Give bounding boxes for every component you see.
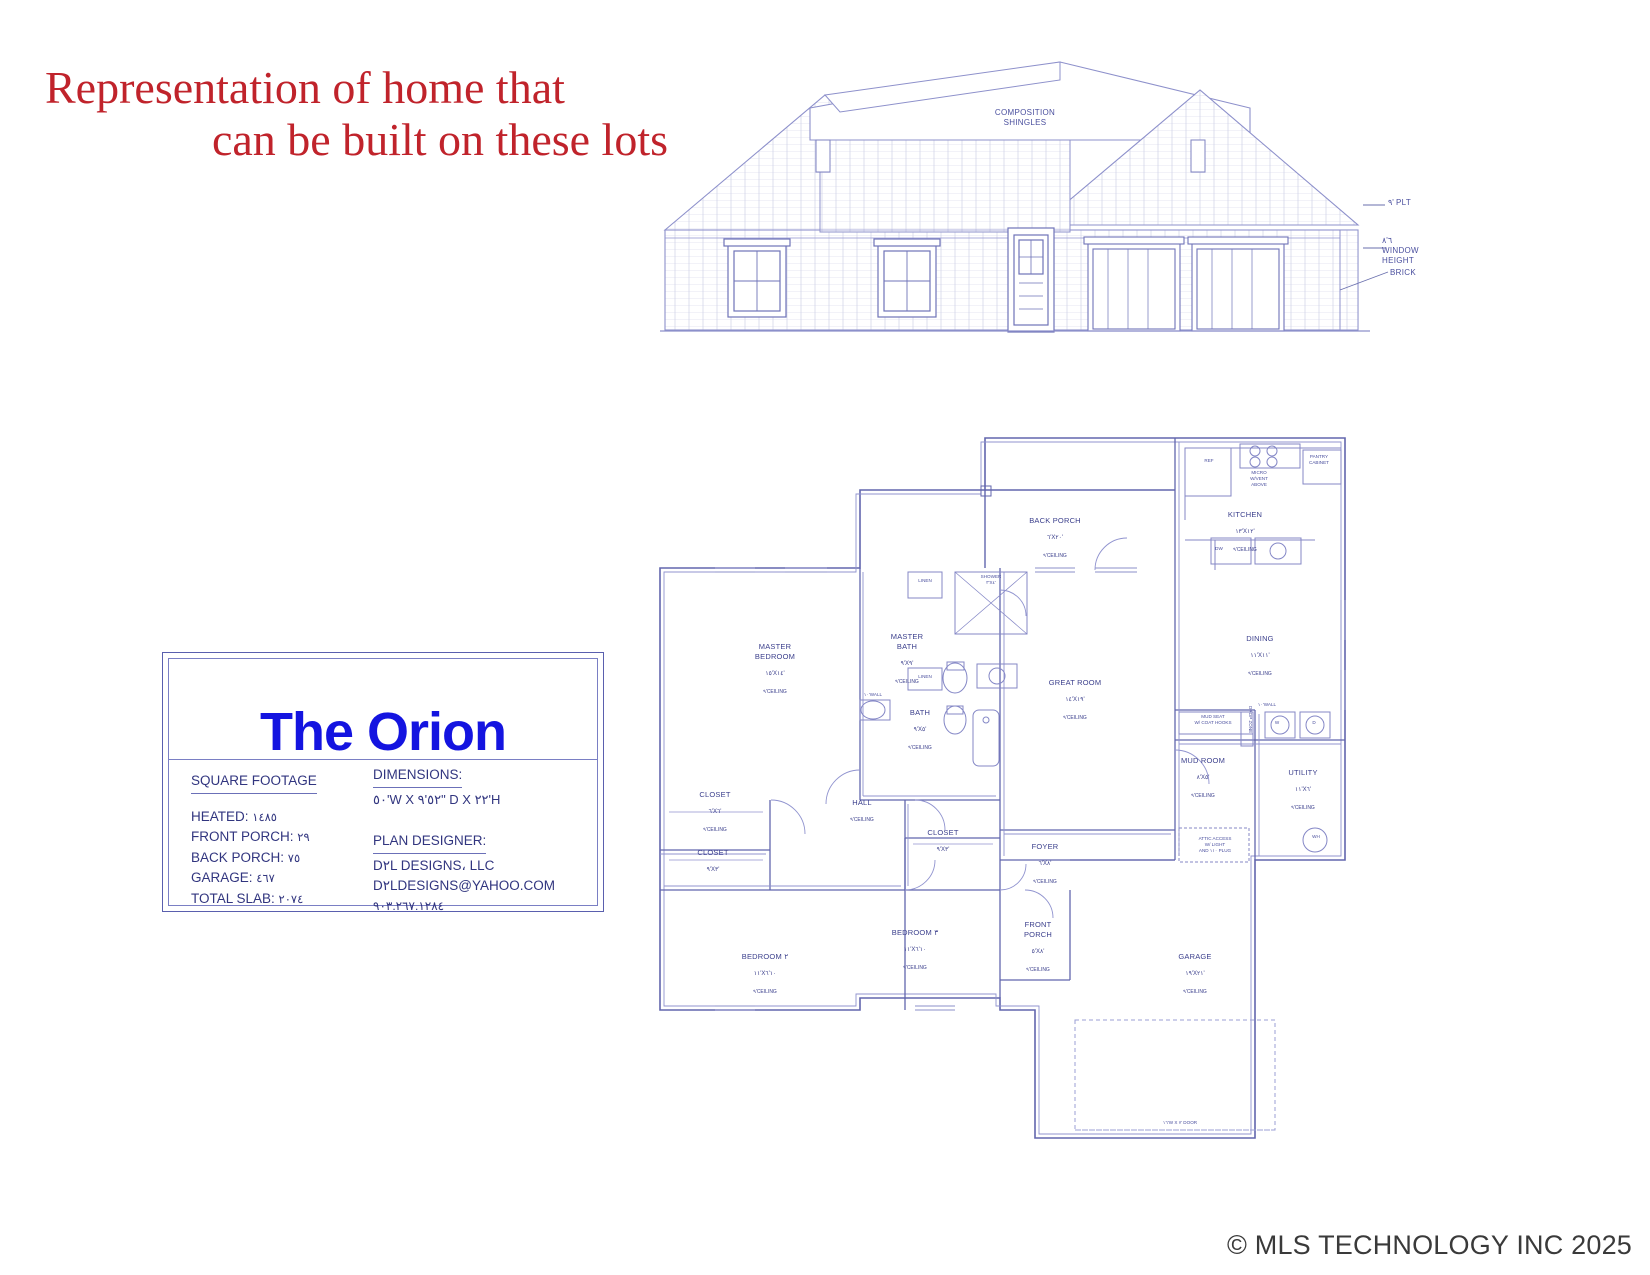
room-label-bedroom-2: BEDROOM ٢ ١١'X١٠'٦ ٩'CEILING — [715, 942, 815, 1005]
sqft-row-garage: GARAGE: ٤٦٧ — [191, 868, 381, 889]
elevation-svg — [640, 40, 1430, 340]
roof-material-note: COMPOSITION SHINGLES — [970, 108, 1080, 128]
sqft-value-total-slab: ٢٠٧٤ — [279, 894, 304, 906]
plan-designer-heading: PLAN DESIGNER: — [373, 831, 486, 854]
square-footage-section: SQUARE FOOTAGE HEATED: ١٤٨٥ FRONT PORCH:… — [191, 771, 381, 909]
square-footage-heading: SQUARE FOOTAGE — [191, 771, 317, 794]
floor-plan-drawing: BACK PORCH ٦'X٢٠' ٩'CEILING KITCHEN ١٣'X… — [655, 420, 1355, 1160]
sqft-row-total-slab: TOTAL SLAB: ٢٠٧٤ — [191, 889, 381, 910]
annotation-linen-lower: LINEN — [907, 674, 943, 680]
window-height-note: ٦'٨ WINDOW HEIGHT — [1382, 236, 1462, 266]
plate-height-note: ٩' PLT — [1388, 198, 1458, 208]
room-label-closet-bedroom3: CLOSET ٩'X٣' — [903, 818, 983, 865]
sqft-value-back-porch: ٧٥ — [288, 853, 300, 865]
room-label-closet-master: CLOSET ٦'X٦' ٩'CEILING — [675, 780, 755, 843]
room-label-bedroom-3: BEDROOM ٣ ١١'X١٠'٦ ٩'CEILING — [865, 918, 965, 981]
annotation-refrigerator: REF — [1185, 458, 1233, 464]
designer-email: D٢LDESIGNS@YAHOO.COM — [373, 876, 588, 897]
room-label-garage: GARAGE ١٩'X٢١' ٩'CEILING — [1145, 942, 1245, 1005]
dimensions-heading: DIMENSIONS: — [373, 765, 462, 788]
annotation-dishwasher: DW — [1205, 546, 1233, 552]
plan-title-block: The Orion SQUARE FOOTAGE HEATED: ١٤٨٥ FR… — [162, 652, 604, 912]
annotation-pantry-cabinet: PANTRY CABINET — [1295, 454, 1343, 466]
room-label-front-porch: FRONT PORCH ٥'X٨' ٩'CEILING — [1003, 910, 1073, 983]
annotation-washer: W — [1270, 720, 1284, 726]
annotation-ten-foot-wall-left: ١٠'WALL — [851, 692, 895, 698]
sqft-label-heated: HEATED — [191, 809, 245, 824]
room-label-mud-room: MUD ROOM ٨'X٥' ٩'CEILING — [1163, 746, 1243, 809]
sqft-label-front-porch: FRONT PORCH — [191, 829, 290, 844]
room-label-hall: HALL ٩'CEILING — [827, 788, 897, 834]
sqft-label-total-slab: TOTAL SLAB — [191, 891, 271, 906]
annotation-attic-access: ATTIC ACCESS W/ LIGHT AND ١١٠ PLUG — [1175, 836, 1255, 854]
annotation-garage-door: ١٦'W X ٧' DOOR — [1135, 1120, 1225, 1126]
room-label-kitchen: KITCHEN ١٣'X١٢' ٩'CEILING — [1200, 500, 1290, 563]
room-label-back-porch: BACK PORCH ٦'X٢٠' ٩'CEILING — [1000, 506, 1110, 569]
room-label-bath: BATH ٩'X٥' ٩'CEILING — [885, 698, 955, 761]
designer-phone: ٩٠٣.٢٦٧.١٢٨٤ — [373, 897, 588, 915]
annotation-drop-zone: DROP ZONE — [1241, 706, 1253, 733]
room-label-foyer: FOYER ٦'X٨' ٩'CEILING — [1010, 832, 1080, 895]
annotation-shower: SHOWER ٣'X٤' — [965, 574, 1017, 586]
annotation-linen-upper: LINEN — [907, 578, 943, 584]
sqft-row-front-porch: FRONT PORCH: ٢٩ — [191, 827, 381, 848]
sqft-value-garage: ٤٦٧ — [256, 873, 275, 885]
room-label-utility: UTILITY ١١'X٦' ٩'CEILING — [1263, 758, 1343, 821]
annotation-mud-seat-coat-hooks: MUD SEAT W/ COAT HOOKS — [1175, 714, 1251, 726]
brick-material-note: BRICK — [1390, 268, 1450, 278]
sqft-row-heated: HEATED: ١٤٨٥ — [191, 807, 381, 828]
room-label-master-bath: MASTER BATH ٩'X٩' ٩'CEILING — [867, 622, 947, 695]
annotation-microwave-vent: MICRO W/VENT ABOVE — [1233, 470, 1285, 488]
dimensions-and-designer-section: DIMENSIONS: ٥٠'W X ٥٢'٩" D X ٢٢'H PLAN D… — [373, 765, 588, 915]
plan-name: The Orion — [163, 705, 603, 759]
sqft-label-back-porch: BACK PORCH — [191, 850, 280, 865]
sqft-value-heated: ١٤٨٥ — [252, 812, 277, 824]
room-label-dining: DINING ١١'X١١' ٩'CEILING — [1215, 624, 1305, 687]
annotation-water-heater: WH — [1305, 834, 1327, 840]
sqft-row-back-porch: BACK PORCH: ٧٥ — [191, 848, 381, 869]
sqft-value-front-porch: ٢٩ — [297, 832, 309, 844]
room-label-great-room: GREAT ROOM ١٤'X١٩' ٩'CEILING — [1020, 668, 1130, 731]
annotation-dryer: D — [1307, 720, 1321, 726]
dimensions-value: ٥٠'W X ٥٢'٩" D X ٢٢'H — [373, 790, 588, 810]
room-label-master-bedroom: MASTER BEDROOM ١٥'X١٤' ٩'CEILING — [715, 632, 835, 705]
room-label-closet-hall: CLOSET ٩'X٣' — [673, 838, 753, 885]
copyright-notice: © MLS TECHNOLOGY INC 2025 — [1227, 1230, 1632, 1261]
front-elevation-drawing: COMPOSITION SHINGLES ٩' PLT ٦'٨ WINDOW H… — [640, 40, 1430, 340]
designer-company: D٢L DESIGNS، LLC — [373, 856, 588, 877]
sqft-label-garage: GARAGE — [191, 870, 249, 885]
